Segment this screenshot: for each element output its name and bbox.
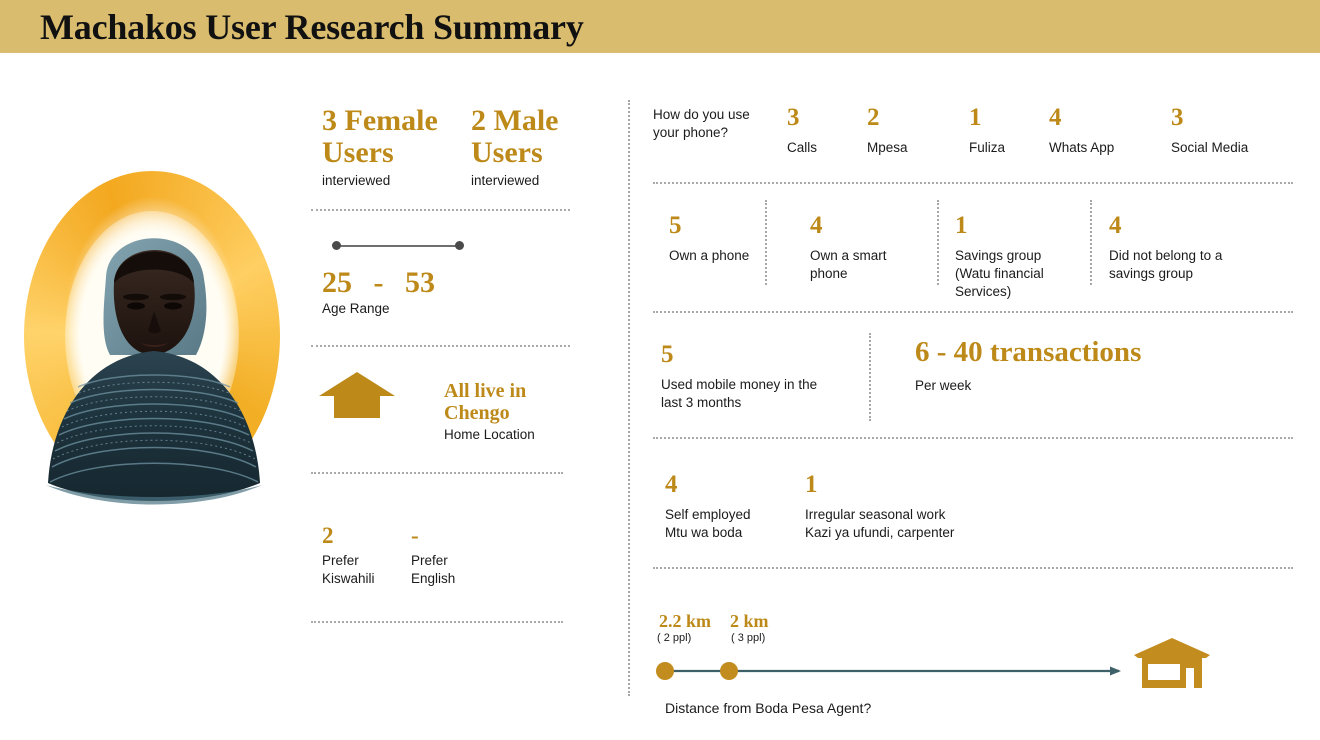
self-employed-label: Self employed Mtu wa boda [665, 506, 800, 542]
social-media-label: Social Media [1171, 139, 1281, 157]
divider-employment [653, 567, 1293, 569]
home-location-caption: Home Location [444, 426, 574, 444]
stat-female-users: 3 Female Users interviewed [322, 105, 462, 190]
divider-ownership-1 [765, 200, 767, 285]
divider-language [311, 621, 563, 623]
divider-ownership-2 [937, 200, 939, 285]
own-smartphone-label: Own a smart phone [810, 247, 915, 283]
age-range-block: 25 - 53 Age Range [322, 268, 435, 318]
avatar [18, 165, 286, 510]
social-media-count: 3 [1171, 105, 1281, 130]
kiswahili-label: Prefer Kiswahili [322, 552, 375, 587]
language-preference-english: - Prefer English [411, 524, 455, 587]
male-users-caption: interviewed [471, 172, 611, 190]
male-users-headline: 2 Male Users [471, 105, 611, 168]
whatsapp-label: Whats App [1049, 139, 1149, 157]
age-range-caption: Age Range [322, 300, 435, 318]
male-users-count: 2 [471, 104, 486, 137]
kiswahili-count: 2 [322, 524, 375, 547]
ownership-item-no-savings-group: 4 Did not belong to a savings group [1109, 213, 1259, 283]
distance-marker-1-people: ( 2 ppl) [657, 632, 691, 644]
distance-marker-2-people: ( 3 ppl) [731, 632, 765, 644]
age-max: 53 [405, 266, 435, 299]
age-range-slider[interactable] [332, 239, 464, 253]
no-savings-group-label: Did not belong to a savings group [1109, 247, 1259, 283]
calls-count: 3 [787, 105, 857, 130]
fuliza-label: Fuliza [969, 139, 1049, 157]
distance-dot-2 [720, 662, 738, 680]
mobile-money-usage: 5 Used mobile money in the last 3 months [661, 342, 826, 412]
mpesa-count: 2 [867, 105, 947, 130]
female-users-caption: interviewed [322, 172, 462, 190]
mobile-money-label: Used mobile money in the last 3 months [661, 376, 826, 412]
seasonal-work-count: 1 [805, 472, 1045, 497]
age-min: 25 [322, 266, 352, 299]
stat-male-users: 2 Male Users interviewed [471, 105, 611, 190]
left-stats-column: 3 Female Users interviewed 2 Male Users … [311, 0, 573, 740]
shop-icon [1134, 638, 1210, 690]
column-divider [628, 100, 630, 696]
calls-label: Calls [787, 139, 857, 157]
home-icon [318, 370, 396, 420]
female-users-label: Female Users [322, 104, 438, 169]
divider-home [311, 472, 563, 474]
age-range-handle-min[interactable] [332, 241, 341, 250]
whatsapp-count: 4 [1049, 105, 1149, 130]
savings-group-count: 1 [955, 213, 1073, 238]
home-location-headline: All live in Chengo [444, 380, 574, 425]
own-phone-count: 5 [669, 213, 754, 238]
portrait-figure [18, 165, 286, 510]
ownership-item-own-smartphone: 4 Own a smart phone [810, 213, 915, 283]
divider-age [311, 345, 570, 347]
own-smartphone-count: 4 [810, 213, 915, 238]
employment-item-self-employed: 4 Self employed Mtu wa boda [665, 472, 800, 542]
age-range-track [336, 245, 460, 247]
phone-usage-item-social-media: 3 Social Media [1171, 105, 1281, 157]
mobile-money-count: 5 [661, 342, 826, 367]
seasonal-work-label: Irregular seasonal work Kazi ya ufundi, … [805, 506, 1045, 542]
divider-users [311, 209, 570, 211]
divider-phone-usage [653, 182, 1293, 184]
distance-dot-1 [656, 662, 674, 680]
phone-usage-item-mpesa: 2 Mpesa [867, 105, 947, 157]
right-stats-column: How do you use your phone? 3 Calls 2 Mpe… [653, 0, 1313, 740]
savings-group-label: Savings group (Watu financial Services) [955, 247, 1073, 301]
female-users-count: 3 [322, 104, 337, 137]
self-employed-count: 4 [665, 472, 800, 497]
distance-marker-1-km: 2.2 km [659, 612, 711, 630]
transactions-headline: 6 - 40 transactions [915, 338, 1235, 367]
phone-usage-item-whatsapp: 4 Whats App [1049, 105, 1149, 157]
ownership-item-savings-group: 1 Savings group (Watu financial Services… [955, 213, 1073, 301]
phone-usage-item-fuliza: 1 Fuliza [969, 105, 1049, 157]
mpesa-label: Mpesa [867, 139, 947, 157]
employment-item-seasonal-work: 1 Irregular seasonal work Kazi ya ufundi… [805, 472, 1045, 542]
distance-axis [655, 660, 1125, 682]
transactions-caption: Per week [915, 377, 1235, 395]
distance-caption: Distance from Boda Pesa Agent? [665, 700, 871, 716]
phone-usage-question: How do you use your phone? [653, 106, 773, 142]
age-range-handle-max[interactable] [455, 241, 464, 250]
own-phone-label: Own a phone [669, 247, 754, 265]
female-users-headline: 3 Female Users [322, 105, 462, 168]
transactions-block: 6 - 40 transactions Per week [915, 338, 1235, 395]
divider-ownership-3 [1090, 200, 1092, 285]
english-count: - [411, 524, 455, 547]
divider-transactions [653, 437, 1293, 439]
divider-mobile-money [869, 333, 871, 421]
divider-ownership [653, 311, 1293, 313]
phone-usage-item-calls: 3 Calls [787, 105, 857, 157]
fuliza-count: 1 [969, 105, 1049, 130]
age-dash: - [360, 266, 398, 299]
ownership-item-own-phone: 5 Own a phone [669, 213, 754, 265]
language-preference-kiswahili: 2 Prefer Kiswahili [322, 524, 375, 587]
age-range-values: 25 - 53 [322, 268, 435, 298]
home-location-text: All live in Chengo Home Location [444, 380, 574, 443]
no-savings-group-count: 4 [1109, 213, 1259, 238]
distance-marker-2-km: 2 km [730, 612, 769, 630]
english-label: Prefer English [411, 552, 455, 587]
